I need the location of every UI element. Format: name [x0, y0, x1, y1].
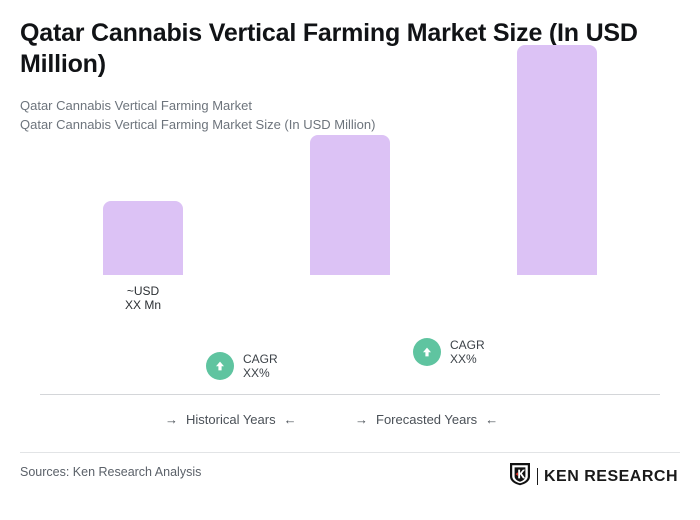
- band-historical-label: Historical Years: [186, 412, 276, 427]
- bar-base-year: [310, 135, 390, 275]
- brand-divider: [537, 468, 538, 485]
- arrow-right-icon: →: [355, 413, 368, 426]
- cagr-label-1: CAGRXX%: [243, 352, 278, 380]
- arrow-right-icon: →: [165, 413, 178, 426]
- plot-area: ~USD XX Mn CAGRXX% ~USD 15 Mn CAGRXX% ~U: [0, 0, 700, 400]
- band-forecast-label: Forecasted Years: [376, 412, 477, 427]
- arrow-up-icon: [206, 352, 234, 380]
- arrow-left-icon: ←: [485, 413, 498, 426]
- brand-logo: KEN RESEARCH: [509, 462, 678, 491]
- cagr-badge-1: CAGRXX%: [206, 352, 278, 380]
- axis-year-bands: → Historical Years ← → Forecasted Years …: [40, 408, 660, 430]
- x-axis-line: [40, 394, 660, 395]
- chart-card: Qatar Cannabis Vertical Farming Market S…: [0, 0, 700, 520]
- ken-research-shield-icon: [509, 462, 531, 491]
- bar-forecast-year: [517, 45, 597, 275]
- sources-text: Sources: Ken Research Analysis: [20, 465, 201, 479]
- brand-name: KEN RESEARCH: [544, 468, 678, 486]
- cagr-badge-2: CAGRXX%: [413, 338, 485, 366]
- bar-value-label-1: ~USD XX Mn: [103, 284, 183, 312]
- arrow-left-icon: ←: [284, 413, 297, 426]
- band-historical-years: → Historical Years ←: [165, 412, 297, 427]
- band-forecasted-years: → Forecasted Years ←: [355, 412, 498, 427]
- cagr-value-2: XX%: [450, 352, 477, 366]
- arrow-up-icon: [413, 338, 441, 366]
- cagr-title-1: CAGR: [243, 352, 278, 366]
- cagr-title-2: CAGR: [450, 338, 485, 352]
- bar-historical-year: [103, 201, 183, 275]
- footer-divider: [20, 452, 680, 453]
- cagr-label-2: CAGRXX%: [450, 338, 485, 366]
- cagr-value-1: XX%: [243, 366, 270, 380]
